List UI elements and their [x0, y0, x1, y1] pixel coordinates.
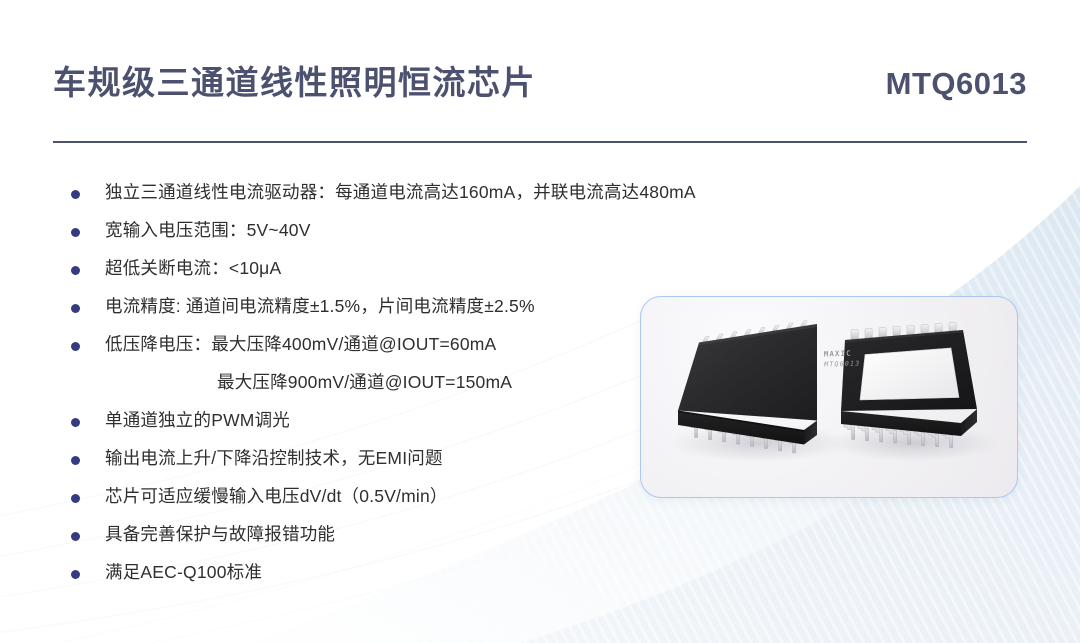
chip-illustration-svg — [641, 297, 1017, 497]
feature-text: 宽输入电压范围：5V~40V — [105, 219, 311, 243]
feature-text: 满足AEC-Q100标准 — [105, 561, 262, 585]
feature-text: 超低关断电流：<10μA — [105, 257, 281, 281]
feature-item: 超低关断电流：<10μA — [62, 250, 762, 288]
bullet-icon — [71, 266, 80, 275]
bullet-icon — [71, 532, 80, 541]
feature-text: 低压降电压：最大压降400mV/通道@IOUT=60mA — [105, 333, 496, 357]
feature-text: 最大压降900mV/通道@IOUT=150mA — [105, 371, 512, 395]
slide-root: 车规级三通道线性照明恒流芯片 MTQ6013 独立三通道线性电流驱动器：每通道电… — [0, 0, 1080, 643]
chip-brand-label: MAXIC — [824, 348, 860, 360]
feature-text: 电流精度: 通道间电流精度±1.5%，片间电流精度±2.5% — [105, 295, 535, 319]
bullet-icon — [71, 342, 80, 351]
feature-text: 独立三通道线性电流驱动器：每通道电流高达160mA，并联电流高达480mA — [105, 181, 696, 205]
feature-text: 具备完善保护与故障报错功能 — [105, 523, 335, 547]
feature-item: 宽输入电压范围：5V~40V — [62, 212, 762, 250]
chip-part-label: MTQ6013 — [824, 359, 860, 370]
product-image-card: MAXIC MTQ6013 — [640, 296, 1018, 498]
bullet-icon — [71, 190, 80, 199]
bullet-icon — [71, 418, 80, 427]
feature-text: 输出电流上升/下降沿控制技术，无EMI问题 — [105, 447, 443, 471]
feature-item: 独立三通道线性电流驱动器：每通道电流高达160mA，并联电流高达480mA — [62, 174, 762, 212]
header-divider — [53, 141, 1027, 143]
feature-text: 单通道独立的PWM调光 — [105, 409, 290, 433]
bullet-icon — [71, 228, 80, 237]
feature-item: 具备完善保护与故障报错功能 — [62, 516, 762, 554]
part-number-label: MTQ6013 — [886, 68, 1027, 99]
slide-header: 车规级三通道线性照明恒流芯片 MTQ6013 — [53, 66, 1027, 124]
feature-item: 满足AEC-Q100标准 — [62, 554, 762, 592]
chip-marking: MAXIC MTQ6013 — [824, 348, 861, 371]
page-title: 车规级三通道线性照明恒流芯片 — [53, 66, 536, 99]
bullet-icon — [71, 456, 80, 465]
bullet-icon — [71, 494, 80, 503]
bullet-icon — [71, 570, 80, 579]
feature-text: 芯片可适应缓慢输入电压dV/dt（0.5V/min） — [105, 485, 448, 509]
bullet-icon — [71, 304, 80, 313]
chip-stage: MAXIC MTQ6013 — [641, 297, 1017, 497]
